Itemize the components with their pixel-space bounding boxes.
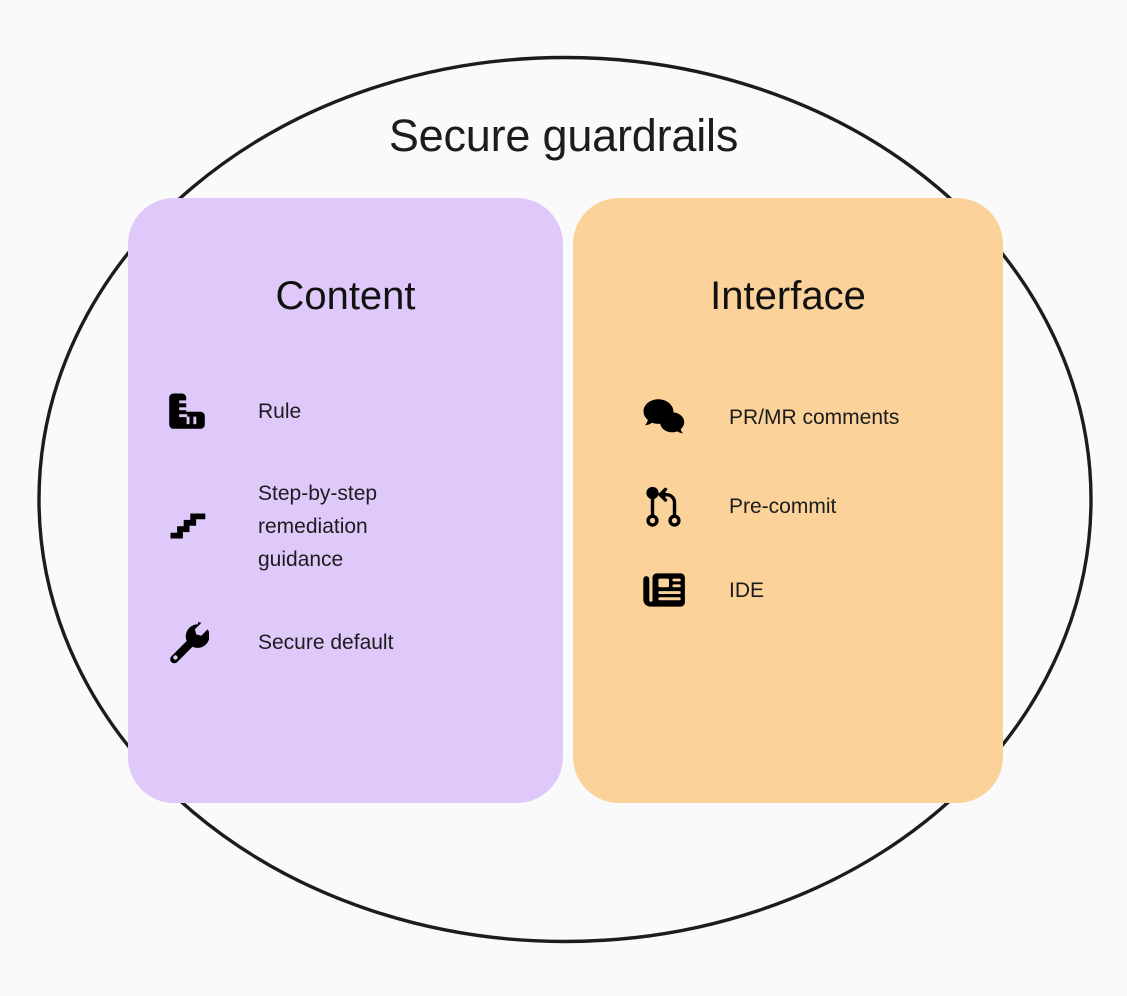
newspaper-icon bbox=[641, 567, 687, 613]
item-secure-default: Secure default bbox=[128, 604, 563, 680]
column-content: Content Rule bbox=[128, 198, 563, 803]
item-pre-commit-label: Pre-commit bbox=[729, 490, 836, 523]
column-content-items: Rule Step-by-step remediation guidance S… bbox=[128, 373, 563, 680]
item-pre-commit: Pre-commit bbox=[573, 461, 1003, 552]
item-remediation-guidance-label: Step-by-step remediation guidance bbox=[258, 477, 377, 576]
item-remediation-guidance: Step-by-step remediation guidance bbox=[128, 449, 563, 604]
item-rule-label: Rule bbox=[258, 395, 301, 428]
column-interface-items: PR/MR comments Pre-commit bbox=[573, 373, 1003, 628]
item-secure-default-label: Secure default bbox=[258, 626, 393, 659]
item-ide-label: IDE bbox=[729, 574, 764, 607]
wrench-icon bbox=[164, 619, 210, 665]
item-ide: IDE bbox=[573, 552, 1003, 628]
column-content-title: Content bbox=[128, 276, 563, 316]
diagram-canvas: Secure guardrails Content Rule bbox=[0, 0, 1127, 996]
column-interface-title: Interface bbox=[573, 276, 1003, 316]
column-interface: Interface PR/MR comments bbox=[573, 198, 1003, 803]
diagram-title: Secure guardrails bbox=[0, 113, 1127, 158]
git-branch-icon bbox=[641, 484, 687, 530]
item-pr-mr-comments-label: PR/MR comments bbox=[729, 401, 899, 434]
stairs-icon bbox=[164, 504, 210, 550]
ruler-icon bbox=[164, 388, 210, 434]
speech-bubbles-icon bbox=[641, 394, 687, 440]
item-rule: Rule bbox=[128, 373, 563, 449]
item-pr-mr-comments: PR/MR comments bbox=[573, 373, 1003, 461]
